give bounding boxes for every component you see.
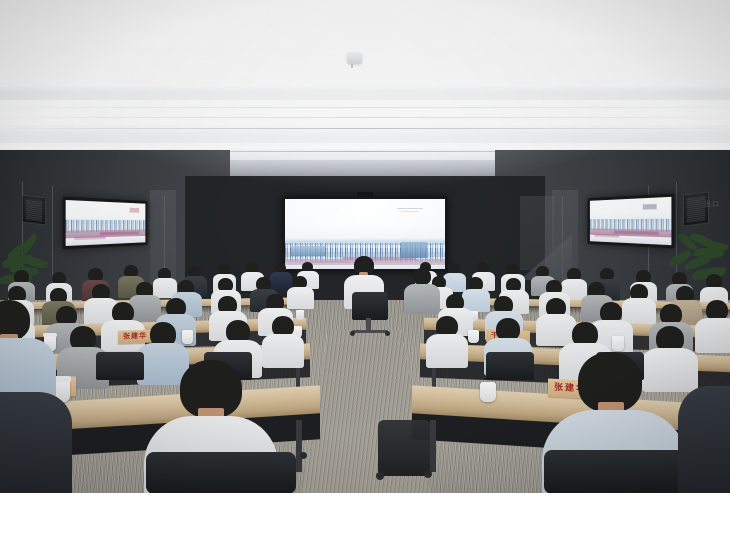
- screenshot-root: 出口: [0, 0, 730, 548]
- nameplate-text: 张建华: [123, 333, 147, 341]
- desk-leg: [296, 420, 302, 472]
- speaker-icon: [683, 191, 709, 226]
- speaker-icon: [22, 195, 46, 226]
- teacup: [296, 310, 304, 320]
- office-chair-foreground: [146, 452, 296, 493]
- teacup-foreground: [480, 382, 496, 402]
- chair-caster: [424, 470, 432, 478]
- ceiling-light-band: [0, 66, 730, 74]
- smoke-detector-icon: [347, 52, 362, 64]
- ceiling-light-band: [0, 0, 730, 42]
- ceiling-seam: [0, 128, 730, 129]
- teacup: [182, 330, 193, 344]
- teacup: [468, 330, 479, 343]
- office-chair: [486, 352, 534, 380]
- conference-room-photo: 出口: [0, 0, 730, 493]
- chair-caster: [300, 452, 307, 459]
- chair-caster: [376, 472, 384, 480]
- ceiling-light-band: [0, 110, 730, 115]
- smoke-detector-stem: [351, 64, 353, 68]
- chair-base: [352, 330, 388, 333]
- desk-leg: [430, 420, 436, 472]
- side-monitor-right-content: [590, 197, 672, 245]
- ceiling-tile-shade: [0, 86, 730, 100]
- office-chair: [378, 420, 430, 476]
- teacup: [612, 336, 624, 351]
- ceiling-seam: [0, 107, 730, 108]
- office-chair: [96, 352, 144, 380]
- side-monitor-left[interactable]: [62, 197, 147, 250]
- ceiling-light-band: [0, 120, 730, 125]
- side-monitor-left-content: [66, 200, 146, 246]
- ceiling-seam: [0, 117, 730, 118]
- screen-mount: [357, 192, 373, 197]
- ceiling-light-band: [0, 143, 730, 149]
- teacup-lid: [43, 333, 57, 337]
- letterbox-band: [0, 493, 730, 548]
- wall-sign-right: 出口: [704, 199, 720, 209]
- ceiling-light-band: [0, 100, 730, 105]
- ceiling-light-band: [0, 48, 730, 60]
- side-monitor-right[interactable]: [588, 193, 675, 248]
- office-chair: [352, 292, 388, 320]
